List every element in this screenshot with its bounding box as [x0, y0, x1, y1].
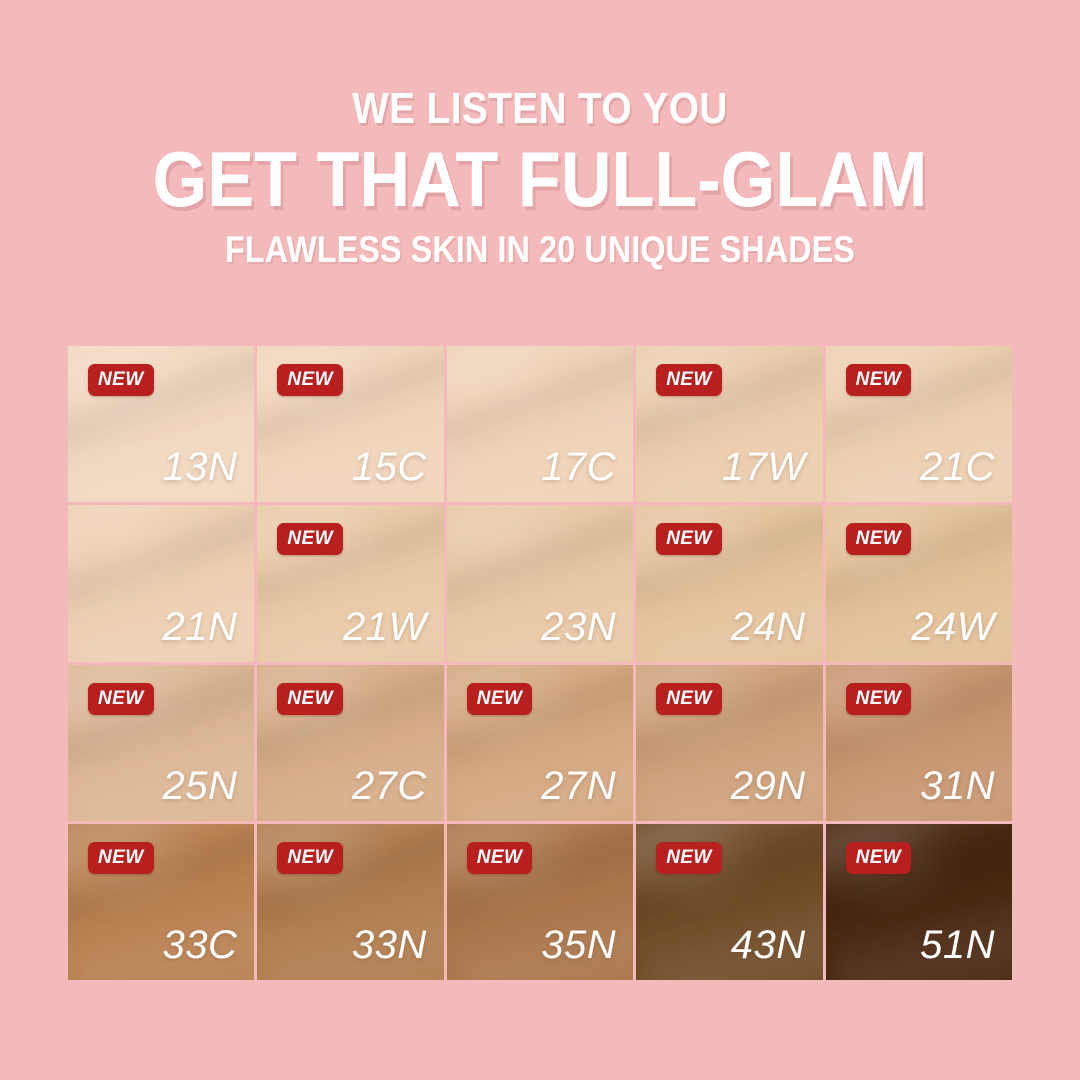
shade-swatch-43n[interactable]: NEW43N — [636, 824, 822, 980]
shade-swatch-27c[interactable]: NEW27C — [257, 665, 443, 821]
shade-swatch-24w[interactable]: NEW24W — [826, 505, 1012, 661]
new-badge: NEW — [88, 683, 154, 715]
shade-label: 23N — [541, 605, 616, 649]
shade-label: 21N — [163, 605, 238, 649]
shade-label: 27C — [352, 764, 427, 808]
shade-label: 51N — [920, 923, 995, 967]
shade-swatch-33n[interactable]: NEW33N — [257, 824, 443, 980]
new-badge: NEW — [467, 683, 533, 715]
shade-swatch-35n[interactable]: NEW35N — [447, 824, 633, 980]
shade-swatch-27n[interactable]: NEW27N — [447, 665, 633, 821]
shade-swatch-21w[interactable]: NEW21W — [257, 505, 443, 661]
shade-label: 33C — [163, 923, 238, 967]
new-badge: NEW — [656, 842, 722, 874]
headline-block: WE LISTEN TO YOU GET THAT FULL-GLAM FLAW… — [0, 0, 1080, 270]
shade-label: 29N — [731, 764, 806, 808]
shade-label: 24W — [911, 605, 995, 649]
new-badge: NEW — [88, 842, 154, 874]
shade-swatch-33c[interactable]: NEW33C — [68, 824, 254, 980]
shade-label: 21W — [343, 605, 427, 649]
shade-label: 35N — [541, 923, 616, 967]
shade-label: 21C — [920, 445, 995, 489]
shade-swatch-17w[interactable]: NEW17W — [636, 346, 822, 502]
shade-label: 43N — [731, 923, 806, 967]
shade-swatch-15c[interactable]: NEW15C — [257, 346, 443, 502]
shade-swatch-25n[interactable]: NEW25N — [68, 665, 254, 821]
shade-label: 25N — [163, 764, 238, 808]
new-badge: NEW — [846, 523, 912, 555]
new-badge: NEW — [846, 842, 912, 874]
shade-swatch-29n[interactable]: NEW29N — [636, 665, 822, 821]
shade-label: 31N — [920, 764, 995, 808]
new-badge: NEW — [277, 683, 343, 715]
shade-label: 33N — [352, 923, 427, 967]
shade-swatch-17c[interactable]: 17C — [447, 346, 633, 502]
shade-swatch-grid: NEW13NNEW15C17CNEW17WNEW21C21NNEW21W23NN… — [68, 346, 1012, 980]
shade-range-poster: WE LISTEN TO YOU GET THAT FULL-GLAM FLAW… — [0, 0, 1080, 1080]
shade-label: 27N — [541, 764, 616, 808]
shade-label: 17C — [541, 445, 616, 489]
shade-swatch-21c[interactable]: NEW21C — [826, 346, 1012, 502]
shade-swatch-24n[interactable]: NEW24N — [636, 505, 822, 661]
new-badge: NEW — [846, 364, 912, 396]
shade-label: 17W — [722, 445, 806, 489]
shade-swatch-21n[interactable]: 21N — [68, 505, 254, 661]
subheadline-text: FLAWLESS SKIN IN 20 UNIQUE SHADES — [70, 230, 1010, 270]
shade-swatch-51n[interactable]: NEW51N — [826, 824, 1012, 980]
shade-swatch-13n[interactable]: NEW13N — [68, 346, 254, 502]
new-badge: NEW — [277, 364, 343, 396]
new-badge: NEW — [467, 842, 533, 874]
new-badge: NEW — [277, 842, 343, 874]
new-badge: NEW — [656, 523, 722, 555]
new-badge: NEW — [277, 523, 343, 555]
shade-swatch-31n[interactable]: NEW31N — [826, 665, 1012, 821]
eyebrow-text: WE LISTEN TO YOU — [65, 86, 1015, 132]
page-title: GET THAT FULL-GLAM — [54, 138, 1026, 220]
shade-swatch-23n[interactable]: 23N — [447, 505, 633, 661]
shade-label: 15C — [352, 445, 427, 489]
shade-label: 24N — [731, 605, 806, 649]
new-badge: NEW — [656, 364, 722, 396]
new-badge: NEW — [846, 683, 912, 715]
new-badge: NEW — [88, 364, 154, 396]
new-badge: NEW — [656, 683, 722, 715]
shade-label: 13N — [163, 445, 238, 489]
